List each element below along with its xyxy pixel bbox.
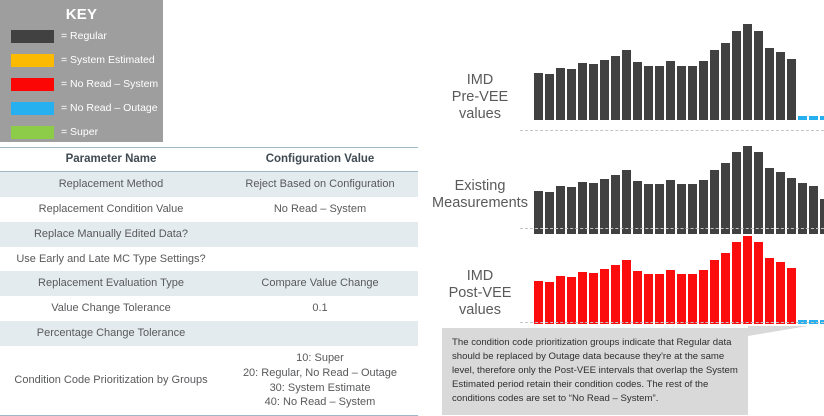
bar [699, 180, 708, 234]
chart-block: ExistingMeasurements [430, 142, 824, 234]
bar [644, 184, 653, 234]
configuration-table: Parameter Name Configuration Value Repla… [0, 147, 418, 416]
table-row: Percentage Change Tolerance [0, 321, 418, 346]
bar [688, 274, 697, 324]
cell-configuration-value: Compare Value Change [222, 271, 418, 296]
bar [765, 48, 774, 120]
key-label: = Regular [61, 30, 107, 42]
cell-parameter-name: Replacement Condition Value [0, 197, 222, 222]
bar-outage-marker [809, 116, 818, 120]
bar [611, 56, 620, 120]
key-row: = No Read – Outage [0, 97, 163, 119]
cell-configuration-value: No Read – System [222, 197, 418, 222]
key-color-swatch [11, 78, 54, 91]
key-color-swatch [11, 30, 54, 43]
bar [699, 270, 708, 324]
chart-label-line2: Post-VEE values [430, 285, 530, 319]
column-header-parameter-name: Parameter Name [0, 148, 222, 172]
key-row: = Super [0, 121, 163, 143]
bar [743, 146, 752, 234]
chart-separator-line [520, 322, 824, 323]
cell-configuration-value: 0.1 [222, 296, 418, 321]
key-row: = System Estimated [0, 49, 163, 71]
bar [787, 59, 796, 120]
cell-parameter-name: Condition Code Prioritization by Groups [0, 346, 222, 416]
bar [600, 60, 609, 120]
bar [688, 66, 697, 120]
bar [545, 74, 554, 120]
bar [754, 31, 763, 120]
cell-configuration-value: Reject Based on Configuration [222, 172, 418, 197]
bar [732, 152, 741, 234]
bar [787, 268, 796, 324]
bar-series [534, 20, 824, 120]
bar [666, 61, 675, 120]
bar [589, 64, 598, 120]
bar-outage-marker [820, 116, 824, 120]
bar [688, 184, 697, 234]
bar [633, 62, 642, 120]
key-color-swatch [11, 102, 54, 115]
bar [589, 183, 598, 234]
bar [633, 271, 642, 324]
key-row: = Regular [0, 25, 163, 47]
bar [710, 50, 719, 120]
bar [677, 274, 686, 324]
bar [765, 258, 774, 324]
key-color-swatch [11, 54, 54, 67]
chart-block: IMDPre-VEE values [430, 20, 824, 120]
table-row: Use Early and Late MC Type Settings? [0, 247, 418, 272]
bar [776, 262, 785, 324]
bar [721, 43, 730, 120]
cell-configuration-value: 10: Super 20: Regular, No Read – Outage … [222, 346, 418, 416]
bar [622, 50, 631, 120]
table-header-row: Parameter Name Configuration Value [0, 148, 418, 172]
bar [567, 187, 576, 234]
bar [567, 69, 576, 120]
bar [677, 66, 686, 120]
bar [589, 273, 598, 324]
bar [578, 272, 587, 324]
key-rows: = Regular= System Estimated= No Read – S… [0, 25, 163, 143]
key-color-swatch [11, 126, 54, 139]
chart-label-line2: Pre-VEE values [430, 89, 530, 123]
cell-configuration-value [222, 222, 418, 247]
bar-series [534, 142, 824, 234]
bar [754, 242, 763, 324]
bar [754, 152, 763, 234]
cell-parameter-name: Replacement Method [0, 172, 222, 197]
bar [545, 282, 554, 324]
chart-separator-line [520, 130, 824, 131]
bar [644, 66, 653, 120]
column-header-configuration-value: Configuration Value [222, 148, 418, 172]
bar [721, 253, 730, 324]
key-label: = No Read – System [61, 78, 158, 90]
chart-label-line2: Measurements [430, 195, 530, 212]
cell-parameter-name: Value Change Tolerance [0, 296, 222, 321]
table-body: Replacement MethodReject Based on Config… [0, 172, 418, 416]
callout-text: The condition code prioritization groups… [452, 336, 738, 406]
cell-parameter-name: Percentage Change Tolerance [0, 321, 222, 346]
bar [666, 180, 675, 234]
bar [600, 269, 609, 324]
bar [776, 172, 785, 234]
bar [611, 175, 620, 234]
table-row: Replacement Evaluation TypeCompare Value… [0, 271, 418, 296]
cell-parameter-name: Replacement Evaluation Type [0, 271, 222, 296]
key-label: = System Estimated [61, 54, 155, 66]
bar [556, 276, 565, 324]
bar [556, 186, 565, 234]
bar [622, 260, 631, 324]
bar [798, 183, 807, 234]
bar [556, 68, 565, 120]
table-row: Condition Code Prioritization by Groups1… [0, 346, 418, 416]
bar [534, 281, 543, 324]
bar [666, 270, 675, 324]
table-row: Value Change Tolerance0.1 [0, 296, 418, 321]
chart-label-line1: Existing [430, 178, 530, 195]
key-label: = No Read – Outage [61, 102, 158, 114]
chart-block: IMDPost-VEE values [430, 232, 824, 324]
callout-pointer [748, 326, 808, 360]
cell-parameter-name: Replace Manually Edited Data? [0, 222, 222, 247]
chart-separator-line [520, 228, 824, 229]
bar [655, 184, 664, 234]
chart-label: IMDPost-VEE values [430, 268, 530, 319]
bar [578, 182, 587, 234]
bar [534, 73, 543, 120]
bar [655, 66, 664, 120]
chart-label: ExistingMeasurements [430, 178, 530, 212]
bar [710, 170, 719, 234]
cell-configuration-value [222, 247, 418, 272]
bar [765, 168, 774, 234]
bar [611, 265, 620, 324]
bar [732, 31, 741, 120]
bar [622, 170, 631, 234]
table-row: Replacement Condition ValueNo Read – Sys… [0, 197, 418, 222]
cell-configuration-value [222, 321, 418, 346]
bar [633, 181, 642, 234]
bar [743, 24, 752, 120]
chart-label: IMDPre-VEE values [430, 72, 530, 123]
bar [809, 186, 818, 234]
bar-outage-marker [798, 116, 807, 120]
bar [776, 52, 785, 120]
key-title: KEY [0, 0, 163, 23]
table-row: Replacement MethodReject Based on Config… [0, 172, 418, 197]
bar [699, 61, 708, 120]
cell-parameter-name: Use Early and Late MC Type Settings? [0, 247, 222, 272]
bar [600, 179, 609, 234]
bar [655, 274, 664, 324]
bar [721, 163, 730, 234]
bar [710, 260, 719, 324]
callout-box: The condition code prioritization groups… [442, 328, 748, 415]
chart-label-line1: IMD [430, 72, 530, 89]
bar [578, 63, 587, 120]
bar [743, 236, 752, 324]
chart-label-line1: IMD [430, 268, 530, 285]
key-row: = No Read – System [0, 73, 163, 95]
bar [732, 242, 741, 324]
bar [787, 178, 796, 234]
bar-series [534, 232, 824, 324]
bar [677, 184, 686, 234]
key-legend-panel: KEY = Regular= System Estimated= No Read… [0, 0, 163, 142]
bar [644, 274, 653, 324]
bar [567, 277, 576, 324]
key-label: = Super [61, 126, 98, 138]
table-row: Replace Manually Edited Data? [0, 222, 418, 247]
